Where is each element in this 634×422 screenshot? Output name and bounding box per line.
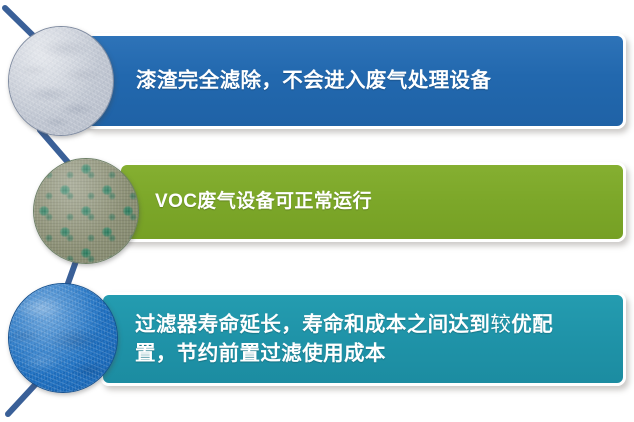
callout-text-1: 漆渣完全滤除，不会进入废气处理设备 — [87, 67, 491, 95]
callout-text-3-part-1: 过滤器寿命延长，寿命和成本之间达到 — [135, 313, 490, 336]
photo-highlight-layer — [34, 159, 138, 263]
photo-highlight-layer — [9, 27, 113, 135]
callout-text-3: 过滤器寿命延长，寿命和成本之间达到较优配 置，节约前置过滤使用成本 — [103, 310, 563, 368]
callout-band-2: VOC废气设备可正常运行 — [118, 162, 626, 242]
callout-band-1: 漆渣完全滤除，不会进入废气处理设备 — [84, 33, 626, 129]
grey-filter-felt-photo — [8, 26, 114, 136]
callout-text-2: VOC废气设备可正常运行 — [121, 189, 372, 215]
infographic-slide: 漆渣完全滤除，不会进入废气处理设备 VOC废气设备可正常运行 过滤器寿命延长，寿… — [0, 0, 634, 422]
callout-text-3-highlight-glyph: 较 — [490, 312, 511, 336]
photo-highlight-layer — [9, 284, 117, 392]
callout-band-3: 过滤器寿命延长，寿命和成本之间达到较优配 置，节约前置过滤使用成本 — [100, 292, 626, 386]
blue-fiber-filter-photo — [8, 283, 118, 393]
green-mesh-filter-photo — [33, 158, 139, 264]
